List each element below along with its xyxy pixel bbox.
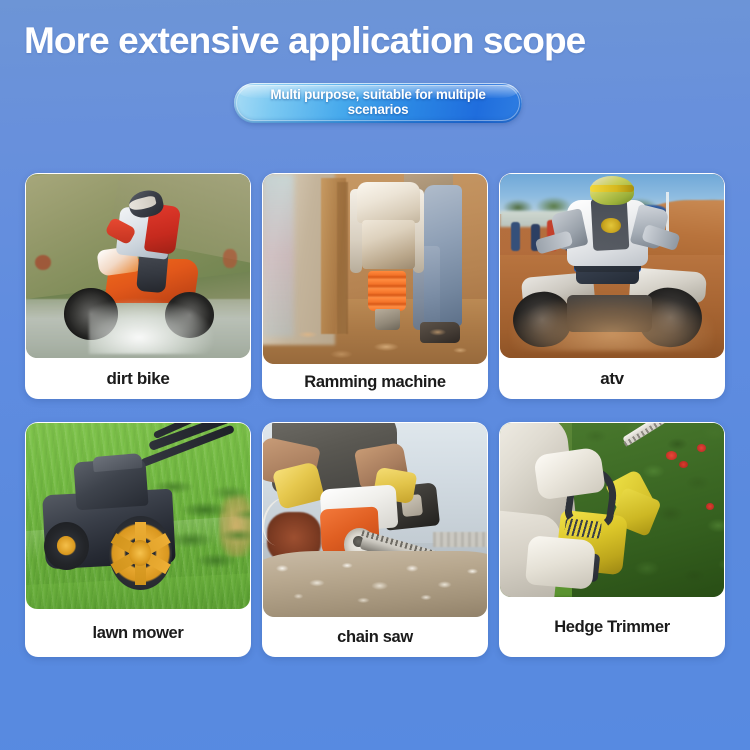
ramming-machine-photo: [263, 174, 487, 364]
lens-flare-shape: [263, 174, 294, 337]
application-card[interactable]: atv: [499, 173, 725, 399]
card-label: Hedge Trimmer: [499, 598, 725, 657]
red-berry-shape: [706, 503, 714, 510]
dust-cloud-shape: [511, 295, 713, 350]
application-card[interactable]: chain saw: [262, 422, 488, 657]
chain-saw-photo: [263, 423, 487, 617]
card-label: lawn mower: [25, 610, 251, 657]
card-label: Ramming machine: [262, 365, 488, 399]
white-glove-shape: [533, 446, 606, 500]
header: More extensive application scope Multi p…: [0, 0, 750, 123]
tamper-bellows-shape: [368, 271, 406, 311]
tamper-body-shape: [362, 220, 416, 269]
soil-texture-shape: [263, 315, 487, 364]
badge-label: Multi purpose, suitable for multiple sce…: [234, 88, 522, 117]
application-card[interactable]: Hedge Trimmer: [499, 422, 725, 657]
water-splash-shape: [89, 299, 214, 354]
lawn-mower-photo: [26, 423, 250, 609]
red-berry-shape: [666, 451, 677, 460]
sawdust-shape: [263, 551, 487, 609]
tamper-engine-shape: [357, 182, 420, 224]
wooden-plank-shape: [337, 182, 348, 334]
fence-shape: [433, 532, 487, 548]
card-label: chain saw: [262, 618, 488, 657]
spectator-shape: [511, 222, 520, 251]
multi-purpose-badge: Multi purpose, suitable for multiple sce…: [234, 83, 522, 123]
card-label: atv: [499, 359, 725, 399]
application-card[interactable]: Ramming machine: [262, 173, 488, 399]
badge-row: Multi purpose, suitable for multiple sce…: [24, 83, 732, 123]
helmet-stripe-shape: [590, 185, 635, 192]
hedge-trimmer-photo: [500, 423, 724, 597]
jersey-logo-shape: [601, 218, 621, 233]
red-berry-shape: [697, 444, 706, 452]
application-card-grid: dirt bike Ramming machine: [25, 173, 725, 657]
background-rider-shape: [35, 255, 51, 270]
dirt-bike-photo: [26, 174, 250, 358]
background-rider-shape: [223, 249, 236, 267]
application-card[interactable]: dirt bike: [25, 173, 251, 399]
white-glove-shape: [525, 535, 596, 589]
card-label: dirt bike: [25, 359, 251, 399]
page-title: More extensive application scope: [24, 22, 732, 61]
application-card[interactable]: lawn mower: [25, 422, 251, 657]
atv-photo: [500, 174, 724, 358]
